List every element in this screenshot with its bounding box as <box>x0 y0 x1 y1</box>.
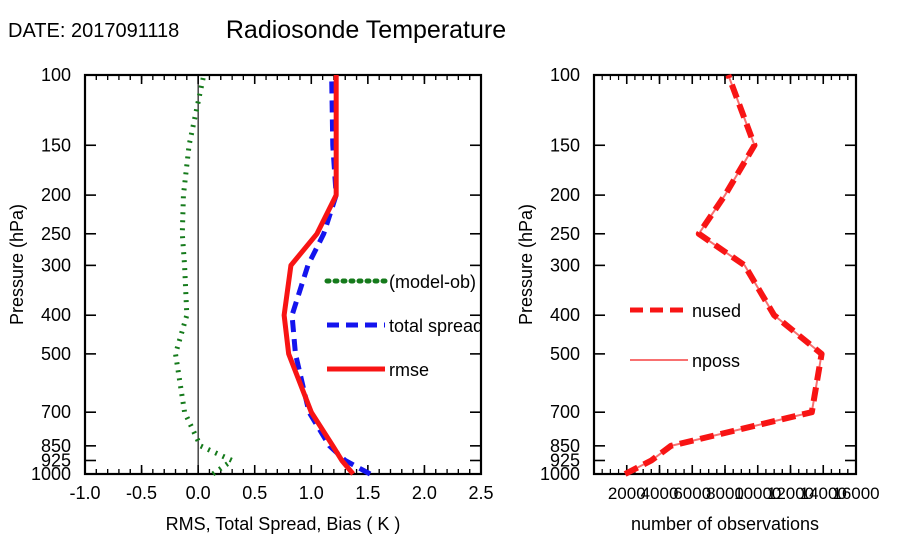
legend-label-rmse: rmse <box>389 360 429 380</box>
figure-canvas: DATE: 2017091118 Radiosonde Temperature … <box>0 0 900 560</box>
x-tick-label: 0.0 <box>186 483 211 503</box>
legend-label-nposs: nposs <box>692 351 740 371</box>
y-tick-label: 400 <box>41 305 71 325</box>
legend-label--model-ob-: (model-ob) <box>389 272 476 292</box>
y-tick-label: 300 <box>41 255 71 275</box>
x-tick-label: 0.5 <box>242 483 267 503</box>
y-tick-label: 1000 <box>31 464 71 484</box>
y-tick-label: 700 <box>550 402 580 422</box>
x-tick-label: 2.0 <box>412 483 437 503</box>
y-tick-label: 200 <box>41 185 71 205</box>
series-total-spread <box>292 75 370 474</box>
y-tick-label: 250 <box>41 224 71 244</box>
y-tick-label: 100 <box>41 65 71 85</box>
y-tick-label: 700 <box>41 402 71 422</box>
x-tick-label: -1.0 <box>69 483 100 503</box>
left-panel-xlabel: RMS, Total Spread, Bias ( K ) <box>166 514 401 534</box>
x-tick-label: 1.5 <box>355 483 380 503</box>
right-panel-group: 2000400060008000100001200014000160001001… <box>516 65 880 534</box>
right-panel-xlabel: number of observations <box>631 514 819 534</box>
legend-label-nused: nused <box>692 301 741 321</box>
x-tick-label: -0.5 <box>126 483 157 503</box>
y-tick-label: 500 <box>41 344 71 364</box>
series--model-ob- <box>176 75 233 474</box>
y-tick-label: 300 <box>550 255 580 275</box>
y-tick-label: 250 <box>550 224 580 244</box>
y-tick-label: 1000 <box>540 464 580 484</box>
x-tick-label: 1.0 <box>299 483 324 503</box>
y-tick-label: 200 <box>550 185 580 205</box>
legend-label-total-spread: total spread <box>389 316 483 336</box>
y-tick-label: 150 <box>550 135 580 155</box>
radiosonde-plot: -1.0-0.50.00.51.01.52.02.510015020025030… <box>0 0 900 560</box>
y-tick-label: 400 <box>550 305 580 325</box>
right-panel-ylabel: Pressure (hPa) <box>516 204 536 325</box>
y-tick-label: 500 <box>550 344 580 364</box>
series-rmse <box>284 75 353 474</box>
left-panel-ylabel: Pressure (hPa) <box>7 204 27 325</box>
y-tick-label: 100 <box>550 65 580 85</box>
right-panel-axes-frame <box>594 75 856 474</box>
x-tick-label: 16000 <box>832 484 879 503</box>
left-panel-group: -1.0-0.50.00.51.01.52.02.510015020025030… <box>7 65 494 534</box>
x-tick-label: 2.5 <box>468 483 493 503</box>
series-nused <box>625 75 822 474</box>
y-tick-label: 150 <box>41 135 71 155</box>
